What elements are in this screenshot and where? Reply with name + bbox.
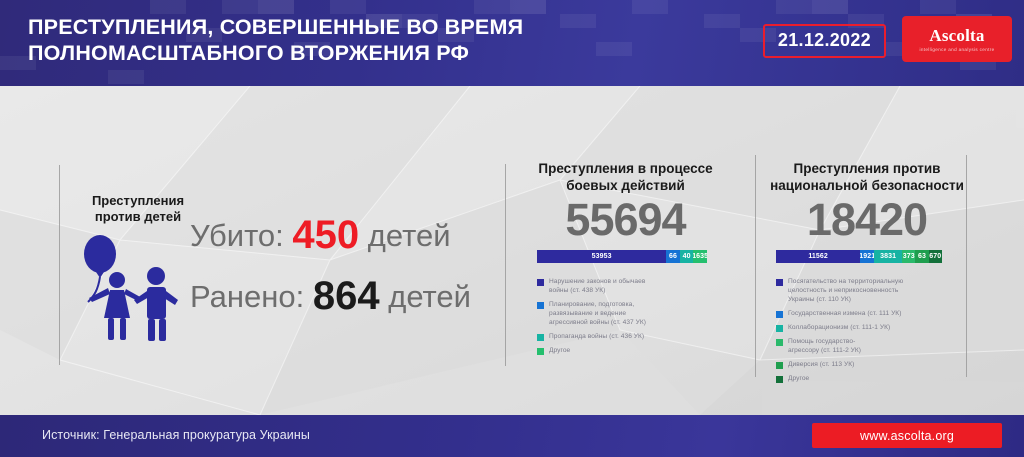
legend-swatch xyxy=(776,339,783,346)
children-wounded-value: 864 xyxy=(313,274,380,318)
legend-swatch xyxy=(537,348,544,355)
legend-label: Другое xyxy=(788,374,809,383)
combat-crimes-stacked-bar: 5395366401635 xyxy=(537,250,707,263)
legend-item: Пропаганда войны (ст. 436 УК) xyxy=(537,332,717,341)
infographic-root: ПРЕСТУПЛЕНИЯ, СОВЕРШЕННЫЕ ВО ВРЕМЯ ПОЛНО… xyxy=(0,0,1024,457)
children-killed-row: Убито: 450 детей xyxy=(190,205,490,266)
children-statistics: Убито: 450 детей Ранено: 864 детей xyxy=(190,205,490,327)
legend-item: Нарушение законов и обычаеввойны (ст. 43… xyxy=(537,277,717,295)
page-title: ПРЕСТУПЛЕНИЯ, СОВЕРШЕННЫЕ ВО ВРЕМЯ ПОЛНО… xyxy=(28,14,728,66)
legend-item: Планирование, подготовка,развязывание и … xyxy=(537,300,717,327)
divider-center-right xyxy=(755,155,756,377)
national-security-stacked-bar: 115621921383137363670 xyxy=(776,250,942,263)
bar-segment: 40 xyxy=(680,250,694,263)
legend-swatch xyxy=(537,302,544,309)
national-security-legend: Посягательство на территориальнуюцелостн… xyxy=(776,277,972,383)
legend-swatch xyxy=(776,376,783,383)
combat-crimes-total: 55694 xyxy=(513,194,738,246)
page-title-line-1: ПРЕСТУПЛЕНИЯ, СОВЕРШЕННЫЕ ВО ВРЕМЯ xyxy=(28,14,728,40)
children-section-title: Преступления против детей xyxy=(74,193,202,225)
children-wounded-unit: детей xyxy=(388,279,471,314)
children-with-balloon-icon xyxy=(74,232,190,342)
date-badge: 21.12.2022 xyxy=(763,24,886,58)
bar-segment: 11562 xyxy=(776,250,860,263)
children-killed-label: Убито: xyxy=(190,218,284,253)
legend-swatch xyxy=(776,279,783,286)
combat-crimes-title-line-2: боевых действий xyxy=(566,178,685,193)
bar-segment: 63 xyxy=(915,250,928,263)
legend-label: Посягательство на территориальнуюцелостн… xyxy=(788,277,903,304)
bar-segment: 670 xyxy=(929,250,942,263)
website-button[interactable]: www.ascolta.org xyxy=(812,423,1002,448)
bar-segment: 3831 xyxy=(874,250,902,263)
bar-segment: 373 xyxy=(902,250,915,263)
divider-left xyxy=(59,165,60,365)
combat-crimes-panel: Преступления в процессе боевых действий … xyxy=(513,160,738,360)
legend-label: Нарушение законов и обычаеввойны (ст. 43… xyxy=(549,277,645,295)
children-title-line-2: против детей xyxy=(95,209,181,224)
children-wounded-label: Ранено: xyxy=(190,279,304,314)
bar-segment: 1635 xyxy=(693,250,707,263)
legend-label: Пропаганда войны (ст. 436 УК) xyxy=(549,332,644,341)
source-text: Источник: Генеральная прокуратура Украин… xyxy=(42,428,310,442)
national-security-panel: Преступления против национальной безопас… xyxy=(762,160,972,388)
bar-segment: 53953 xyxy=(537,250,666,263)
legend-label: Планирование, подготовка,развязывание и … xyxy=(549,300,646,327)
legend-item: Помощь государство-агрессору (ст. 111-2 … xyxy=(776,337,972,355)
logo-wordmark: Ascolta xyxy=(929,27,984,45)
children-killed-unit: детей xyxy=(368,218,451,253)
page-title-line-2: ПОЛНОМАСШТАБНОГО ВТОРЖЕНИЯ РФ xyxy=(28,40,728,66)
children-title-line-1: Преступления xyxy=(92,193,184,208)
children-killed-value: 450 xyxy=(292,213,359,257)
legend-swatch xyxy=(537,279,544,286)
national-security-title-line-1: Преступления против xyxy=(794,161,941,176)
bar-segment: 1921 xyxy=(860,250,874,263)
legend-label: Диверсия (ст. 113 УК) xyxy=(788,360,854,369)
legend-swatch xyxy=(537,334,544,341)
legend-swatch xyxy=(776,325,783,332)
footer-bar: Источник: Генеральная прокуратура Украин… xyxy=(0,415,1024,457)
legend-item: Государственная измена (ст. 111 УК) xyxy=(776,309,972,318)
legend-item: Коллаборационизм (ст. 111-1 УК) xyxy=(776,323,972,332)
bar-segment: 66 xyxy=(666,250,680,263)
legend-swatch xyxy=(776,311,783,318)
combat-crimes-title-line-1: Преступления в процессе xyxy=(538,161,712,176)
header-bar: ПРЕСТУПЛЕНИЯ, СОВЕРШЕННЫЕ ВО ВРЕМЯ ПОЛНО… xyxy=(0,0,1024,86)
national-security-title: Преступления против национальной безопас… xyxy=(762,160,972,194)
legend-label: Коллаборационизм (ст. 111-1 УК) xyxy=(788,323,890,332)
ascolta-logo[interactable]: Ascolta intelligence and analysis centre xyxy=(902,16,1012,62)
divider-center-left xyxy=(505,164,506,366)
children-wounded-row: Ранено: 864 детей xyxy=(190,266,490,327)
logo-tagline: intelligence and analysis centre xyxy=(919,47,994,52)
national-security-total: 18420 xyxy=(762,194,972,246)
combat-crimes-legend: Нарушение законов и обычаеввойны (ст. 43… xyxy=(537,277,717,355)
legend-item: Другое xyxy=(537,346,717,355)
legend-label: Государственная измена (ст. 111 УК) xyxy=(788,309,901,318)
legend-item: Посягательство на территориальнуюцелостн… xyxy=(776,277,972,304)
combat-crimes-title: Преступления в процессе боевых действий xyxy=(513,160,738,194)
legend-label: Помощь государство-агрессору (ст. 111-2 … xyxy=(788,337,861,355)
legend-swatch xyxy=(776,362,783,369)
national-security-title-line-2: национальной безопасности xyxy=(770,178,964,193)
legend-item: Диверсия (ст. 113 УК) xyxy=(776,360,972,369)
legend-label: Другое xyxy=(549,346,570,355)
legend-item: Другое xyxy=(776,374,972,383)
